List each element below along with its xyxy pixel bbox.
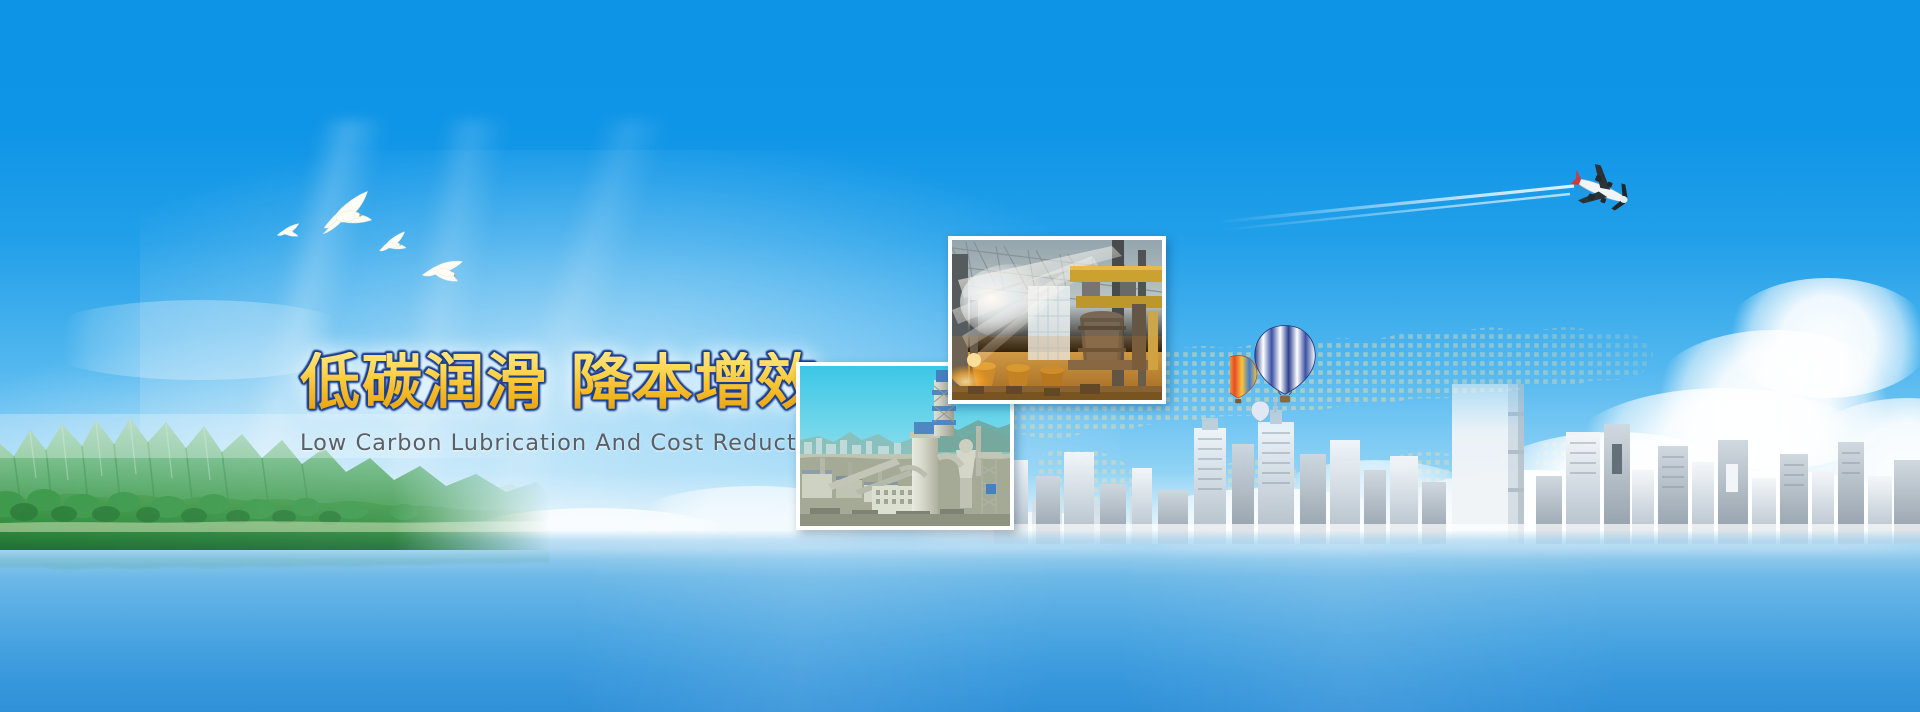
island-reflection — [0, 548, 550, 604]
photo-steel-mill[interactable] — [948, 236, 1166, 404]
city-skyline — [980, 384, 1920, 544]
hero-banner: 低碳润滑 降本增效 Low Carbon Lubrication And Cos… — [0, 0, 1920, 712]
doves-icon — [270, 178, 500, 298]
